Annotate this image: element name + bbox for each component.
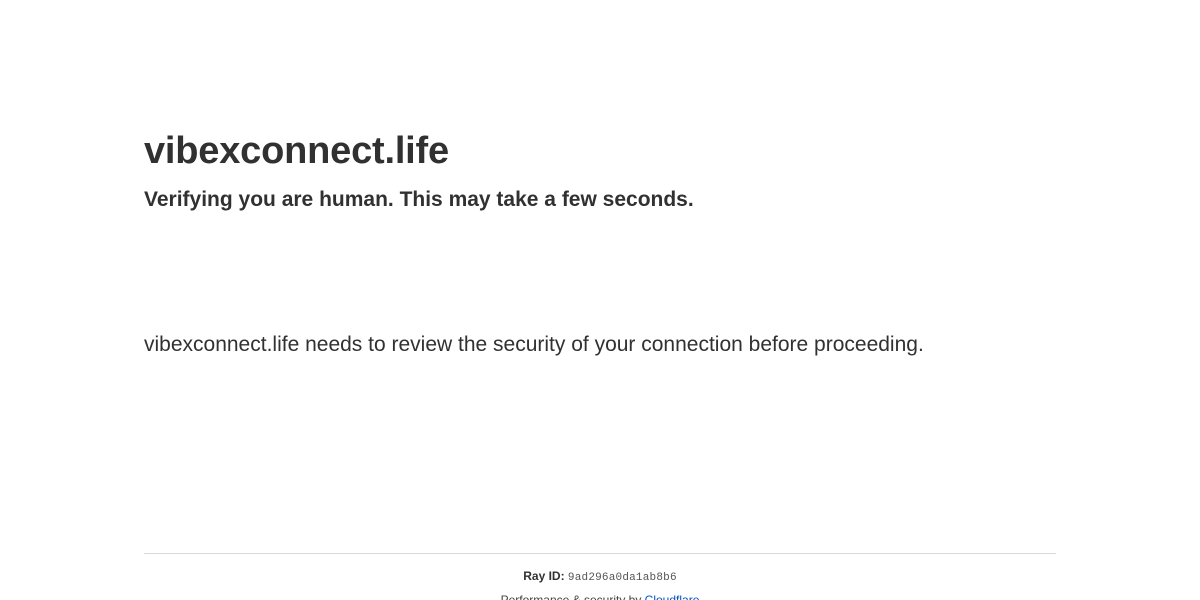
footer: Ray ID: 9ad296a0da1ab8b6 Performance & s… — [144, 553, 1056, 600]
performance-security-row: Performance & security by Cloudflare — [144, 592, 1056, 600]
ray-id-label: Ray ID: — [523, 569, 564, 583]
turnstile-challenge-widget[interactable] — [144, 239, 444, 304]
challenge-page: vibexconnect.life Verifying you are huma… — [0, 0, 1200, 600]
challenge-description: vibexconnect.life needs to review the se… — [144, 327, 944, 363]
challenge-status-text: Verifying you are human. This may take a… — [144, 186, 1056, 213]
ray-id-row: Ray ID: 9ad296a0da1ab8b6 — [144, 568, 1056, 587]
ray-id-value: 9ad296a0da1ab8b6 — [568, 572, 677, 584]
challenge-main: vibexconnect.life Verifying you are huma… — [144, 130, 1056, 384]
cloudflare-link[interactable]: Cloudflare — [645, 593, 700, 600]
page-title: vibexconnect.life — [144, 130, 1056, 174]
performance-security-text: Performance & security by — [501, 593, 642, 600]
content-container: vibexconnect.life Verifying you are huma… — [144, 0, 1056, 600]
